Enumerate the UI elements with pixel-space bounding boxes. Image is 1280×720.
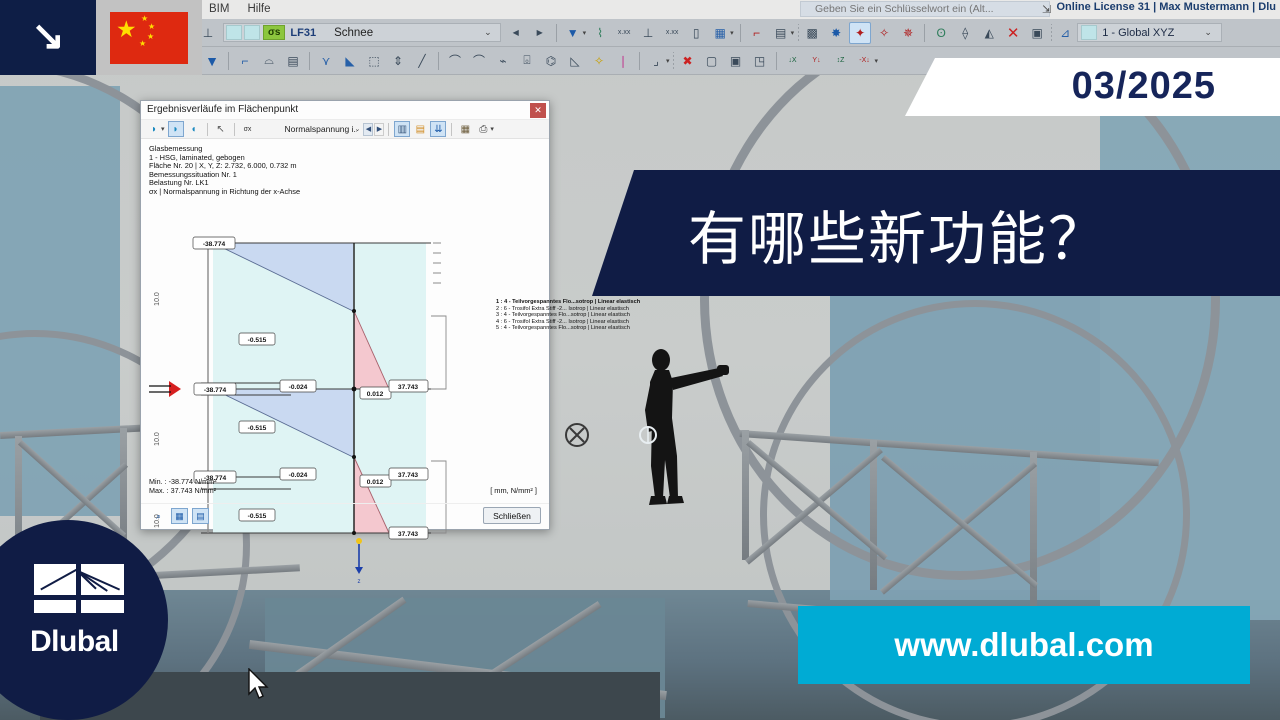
toolbar-dot-separator: [1049, 24, 1053, 42]
value-xx-icon[interactable]: x.xx: [613, 22, 635, 44]
isolines-icon[interactable]: ◗: [168, 121, 184, 137]
table-values-icon[interactable]: ▦: [171, 508, 188, 524]
toolbar-separator: [228, 52, 229, 70]
surface-load-icon[interactable]: ⌬: [540, 50, 562, 72]
render-surface-icon[interactable]: ✦: [849, 22, 871, 44]
headline-badge: 有哪些新功能？: [592, 170, 1280, 296]
headline-text: 有哪些新功能？: [688, 192, 1108, 276]
colors-icon[interactable]: ◗: [146, 121, 162, 137]
bridge-mark-icon: [34, 564, 124, 619]
section-vertical-icon[interactable]: ▥: [394, 121, 410, 137]
svg-text:-38.774: -38.774: [204, 387, 227, 394]
dialog-info-block: Glasbemessung 1 - HSG, laminated, geboge…: [141, 139, 549, 197]
axis-gizmo-z: z: [355, 538, 363, 585]
toolbar-separator: [438, 52, 439, 70]
surface-support-icon[interactable]: ⌻: [516, 50, 538, 72]
filter-funnel-icon[interactable]: ▼: [201, 50, 223, 72]
load-case-swatch-1: [226, 25, 242, 40]
chevron-down-icon[interactable]: ⌄: [355, 125, 361, 133]
date-badge: 03/2025: [905, 58, 1280, 116]
line-mesh-icon[interactable]: ⌁: [492, 50, 514, 72]
table-icon[interactable]: ▦: [457, 121, 473, 137]
toolbar-separator: [639, 52, 640, 70]
mouse-cursor: [248, 668, 270, 702]
support-load-icon[interactable]: ⊥: [637, 22, 659, 44]
chevron-down-icon[interactable]: ⌄: [484, 27, 492, 38]
svg-text:10.0: 10.0: [154, 432, 161, 446]
nodal-support-icon[interactable]: ⋎: [315, 50, 337, 72]
svg-text:-0.024: -0.024: [289, 472, 308, 479]
load-case-swatch-2: [244, 25, 260, 40]
abacus-icon[interactable]: ▤: [770, 22, 792, 44]
beam-rail-right-post2: [870, 440, 877, 590]
column-icon[interactable]: ▯: [685, 22, 707, 44]
toolbar-separator: [556, 24, 557, 42]
clear-results-icon[interactable]: ✖: [677, 50, 699, 72]
mirror-icon[interactable]: ⟠: [954, 22, 976, 44]
svg-text:-38.774: -38.774: [203, 241, 226, 248]
surface-icon[interactable]: ▤: [282, 50, 304, 72]
surface-thickness-icon[interactable]: ◺: [564, 50, 586, 72]
dialog-toolbar[interactable]: ◗ ▾ ◗ ◖ ↖ σx Normalspannung i... ⌄ ◀ ▶ ▥…: [141, 120, 549, 139]
prev-load-case-button[interactable]: ◀: [505, 22, 527, 44]
prev-result-button[interactable]: ◀: [363, 123, 373, 136]
plate-icon[interactable]: ◣: [339, 50, 361, 72]
dialog-toolbar-separator: [451, 123, 452, 136]
flag-star-2: ★: [148, 23, 155, 31]
website-url: www.dlubal.com: [894, 626, 1153, 664]
mannequin-figure: [615, 348, 735, 526]
axis-y-icon[interactable]: Y↓: [806, 50, 828, 72]
section-horizontal-icon[interactable]: ▤: [412, 121, 428, 137]
filter-x-icon[interactable]: ▼: [562, 22, 584, 44]
date-label: 03/2025: [1072, 65, 1216, 108]
legend-entry: 3 : 4 - Teilvorgespanntes Flo...sotrop |…: [496, 312, 676, 319]
flag-star-3: ★: [147, 33, 154, 41]
svg-text:37.743: 37.743: [398, 384, 419, 391]
legend-entry: 2 : 6 - Trosifol Extra Stiff -2... Isotr…: [496, 306, 676, 313]
chevron-down-icon[interactable]: ▾: [490, 125, 494, 133]
flag-star-large: ★: [116, 18, 137, 41]
flag-star-4: ★: [139, 40, 146, 48]
node-arrow-icon[interactable]: ⇕: [387, 50, 409, 72]
dialog-toolbar-separator: [388, 123, 389, 136]
chart-legend: 1 : 4 - Teilvorgespanntes Flo...sotrop |…: [496, 299, 676, 332]
solid-icon[interactable]: ⬚: [363, 50, 385, 72]
pointer-icon[interactable]: ↖: [213, 121, 229, 137]
svg-text:37.743: 37.743: [398, 531, 419, 538]
max-value-label: Max. : 37.743 N/mm²: [149, 486, 217, 495]
dialog-title: Ergebnisverläufe im Flächenpunkt: [147, 104, 298, 115]
axis-node-icon[interactable]: ⌐: [234, 50, 256, 72]
load-case-code: LF31: [290, 27, 316, 39]
svg-text:0.012: 0.012: [367, 391, 384, 398]
info-line-6: σx | Normalspannung in Richtung der x-Ac…: [149, 188, 541, 197]
coordinate-system-selector[interactable]: 1 - Global XYZ ⌄: [1077, 23, 1222, 42]
svg-text:10.0: 10.0: [154, 292, 161, 306]
coordinate-system-label: 1 - Global XYZ: [1102, 27, 1174, 39]
zoom-icon[interactable]: ⌕: [150, 508, 167, 524]
menu-item-bim[interactable]: BIM: [200, 0, 238, 19]
magic-wand-icon[interactable]: ✧: [588, 50, 610, 72]
toolbar-separator: [309, 52, 310, 70]
close-icon[interactable]: ✕: [530, 103, 546, 118]
svg-text:0.012: 0.012: [367, 479, 384, 486]
results-dialog[interactable]: Ergebnisverläufe im Flächenpunkt ✕ ◗ ▾ ◗…: [140, 100, 550, 530]
toolbar-separator: [740, 24, 741, 42]
toolbar-dot-separator: [796, 24, 800, 42]
grid-cube-icon[interactable]: ▦: [709, 22, 731, 44]
flag-panel: ★ ★ ★ ★ ★: [96, 0, 202, 75]
print-icon[interactable]: ⎙: [475, 121, 491, 137]
camera-icon[interactable]: ▣: [1026, 22, 1048, 44]
svg-text:z: z: [358, 579, 361, 585]
legend-icon[interactable]: ▤: [192, 508, 209, 524]
beam-rail-right-post1: [742, 430, 749, 560]
min-value-label: Min. : -38.774 N/mm²: [149, 477, 217, 486]
license-label: Online License 31 | Max Mustermann | Dlu: [1057, 1, 1277, 13]
next-load-case-button[interactable]: ▶: [529, 22, 551, 44]
isobands-icon[interactable]: ◖: [186, 121, 202, 137]
load-case-selector[interactable]: σs LF31 Schnee ⌄: [223, 23, 501, 42]
arrow-down-right-icon: ↘: [31, 16, 65, 56]
dialog-title-bar[interactable]: Ergebnisverläufe im Flächenpunkt ✕: [141, 101, 549, 120]
grid-settings-icon[interactable]: ✸: [825, 22, 847, 44]
prism-icon[interactable]: ◭: [978, 22, 1000, 44]
axis-origin-icon[interactable]: ⌐: [746, 22, 768, 44]
legend-entry: 5 : 4 - Teilvorgespanntes Flo...sotrop |…: [496, 325, 676, 332]
legend-entry: 1 : 4 - Teilvorgespanntes Flo...sotrop |…: [496, 299, 676, 306]
dialog-statistics: Min. : -38.774 N/mm² Max. : 37.743 N/mm²: [149, 477, 217, 495]
stress-symbol-badge: σs: [263, 25, 285, 40]
axis-minus-x-icon[interactable]: -X↓: [854, 50, 876, 72]
next-result-button[interactable]: ▶: [374, 123, 384, 136]
values-icon[interactable]: ⇊: [430, 121, 446, 137]
units-label: [ mm, N/mm² ]: [490, 486, 537, 495]
svg-text:37.743: 37.743: [398, 472, 419, 479]
axes-icon[interactable]: ⊿: [1054, 22, 1076, 44]
link-icon[interactable]: ʘ: [930, 22, 952, 44]
svg-text:-0.515: -0.515: [248, 425, 267, 432]
svg-text:-0.515: -0.515: [248, 337, 267, 344]
legend-entry: 4 : 6 - Trosifol Extra Stiff -2... Isotr…: [496, 319, 676, 326]
beam-rail-right-post3: [1030, 452, 1037, 622]
render-solid-icon[interactable]: ✧: [873, 22, 895, 44]
chevron-down-icon[interactable]: ⌄: [1204, 27, 1212, 38]
svg-text:-0.024: -0.024: [289, 384, 308, 391]
node-deform-icon[interactable]: ⌇: [589, 22, 611, 44]
member-icon[interactable]: ⌓: [258, 50, 280, 72]
wire-cube-icon[interactable]: ◳: [749, 50, 771, 72]
search-input[interactable]: [800, 1, 1050, 17]
result-type-select[interactable]: Normalspannung i...: [285, 124, 357, 134]
toolbar-dot-separator: [672, 52, 676, 70]
toolbar-separator: [924, 24, 925, 42]
logo-wordmark: Dlubal: [30, 625, 119, 659]
grid-icon[interactable]: ▩: [801, 22, 823, 44]
toolbar-separator: [776, 52, 777, 70]
stress-symbol-label: σx: [240, 121, 256, 137]
language-flag-bar: ↘ ★ ★ ★ ★ ★: [0, 0, 202, 75]
arrow-panel: ↘: [0, 0, 96, 75]
delete-x-icon[interactable]: ✕: [1002, 22, 1024, 44]
coordinate-system-swatch: [1081, 25, 1097, 40]
edit-cube-icon[interactable]: ▣: [725, 50, 747, 72]
dialog-footer: ⌕ ▦ ▤ Schließen: [141, 503, 549, 529]
load-case-name: Schnee: [334, 27, 484, 39]
line-support-icon[interactable]: ⌒: [444, 50, 466, 72]
node-marker-icon: [562, 420, 592, 450]
axis-z-icon[interactable]: ↕Z: [830, 50, 852, 72]
axis-x-icon[interactable]: ↓X: [782, 50, 804, 72]
china-flag-icon: ★ ★ ★ ★ ★: [110, 12, 188, 64]
thermometer-icon[interactable]: ❘: [612, 50, 634, 72]
chart-icon[interactable]: ⌟: [645, 50, 667, 72]
dialog-toolbar-separator: [207, 123, 208, 136]
website-badge[interactable]: www.dlubal.com: [798, 606, 1250, 684]
stress-distribution-chart[interactable]: 10.0 10.0 10.0 -38.774 -0.515 -38.774 -0…: [141, 231, 551, 586]
cube-icon[interactable]: ▢: [701, 50, 723, 72]
line-hinge-icon[interactable]: ⌒: [468, 50, 490, 72]
menu-item-hilfe[interactable]: Hilfe: [238, 0, 279, 19]
dialog-toolbar-separator: [234, 123, 235, 136]
close-button[interactable]: Schließen: [483, 507, 541, 524]
value-xx2-icon[interactable]: x.xx: [661, 22, 683, 44]
member-line-icon[interactable]: ╱: [411, 50, 433, 72]
render-deform-icon[interactable]: ✵: [897, 22, 919, 44]
license-icon: ⇲: [1042, 3, 1051, 16]
colors-dropdown-icon[interactable]: ▾: [161, 125, 165, 133]
